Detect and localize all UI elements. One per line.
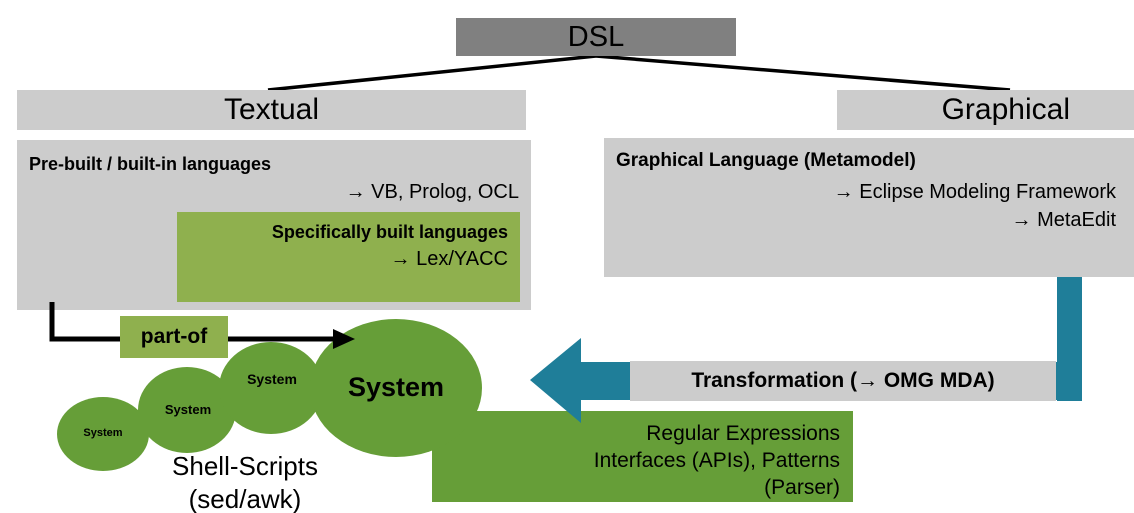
system-circle-4-label: System xyxy=(331,372,461,403)
techniques-line-3: (Parser) xyxy=(440,474,840,501)
graphical-language-items: → Eclipse Modeling Framework → MetaEdit xyxy=(834,178,1116,234)
techniques-line-1: Regular Expressions xyxy=(440,420,840,447)
specific-languages-title: Specifically built languages xyxy=(177,222,508,243)
system-circle-1-label: System xyxy=(63,427,143,439)
graphical-item-1: → Eclipse Modeling Framework xyxy=(834,178,1116,206)
specific-languages-box[interactable]: Specifically built languages → Lex/YACC xyxy=(177,212,520,302)
arrowhead-icon xyxy=(333,329,355,349)
graphical-language-title: Graphical Language (Metamodel) xyxy=(616,150,916,172)
branch-header-textual[interactable]: Textual xyxy=(17,90,526,130)
prebuilt-languages-title: Pre-built / built-in languages xyxy=(29,154,271,175)
transformation-label[interactable]: Transformation (→ OMG MDA) xyxy=(630,361,1056,401)
system-circle-3[interactable] xyxy=(219,342,323,434)
shell-caption-line-1: Shell-Scripts xyxy=(130,450,360,483)
teal-connector-bar xyxy=(1057,277,1082,401)
techniques-line-2: Interfaces (APIs), Patterns xyxy=(440,447,840,474)
graphical-item-2: → MetaEdit xyxy=(834,206,1116,234)
system-circle-3-label: System xyxy=(228,371,316,387)
shell-scripts-caption: Shell-Scripts (sed/awk) xyxy=(130,450,360,513)
diagram-canvas: DSL Textual Pre-built / built-in languag… xyxy=(0,0,1134,513)
prebuilt-languages-items: → VB, Prolog, OCL xyxy=(346,181,519,204)
system-circle-2-label: System xyxy=(145,402,231,417)
branch-header-graphical[interactable]: Graphical xyxy=(837,90,1134,130)
specific-languages-items: → Lex/YACC xyxy=(177,248,508,271)
graphical-panel: Graphical Language (Metamodel) → Eclipse… xyxy=(604,138,1134,277)
dsl-root-node[interactable]: DSL xyxy=(456,18,736,56)
shell-caption-line-2: (sed/awk) xyxy=(130,483,360,513)
techniques-text: Regular Expressions Interfaces (APIs), P… xyxy=(440,420,840,501)
part-of-label: part-of xyxy=(120,316,228,358)
